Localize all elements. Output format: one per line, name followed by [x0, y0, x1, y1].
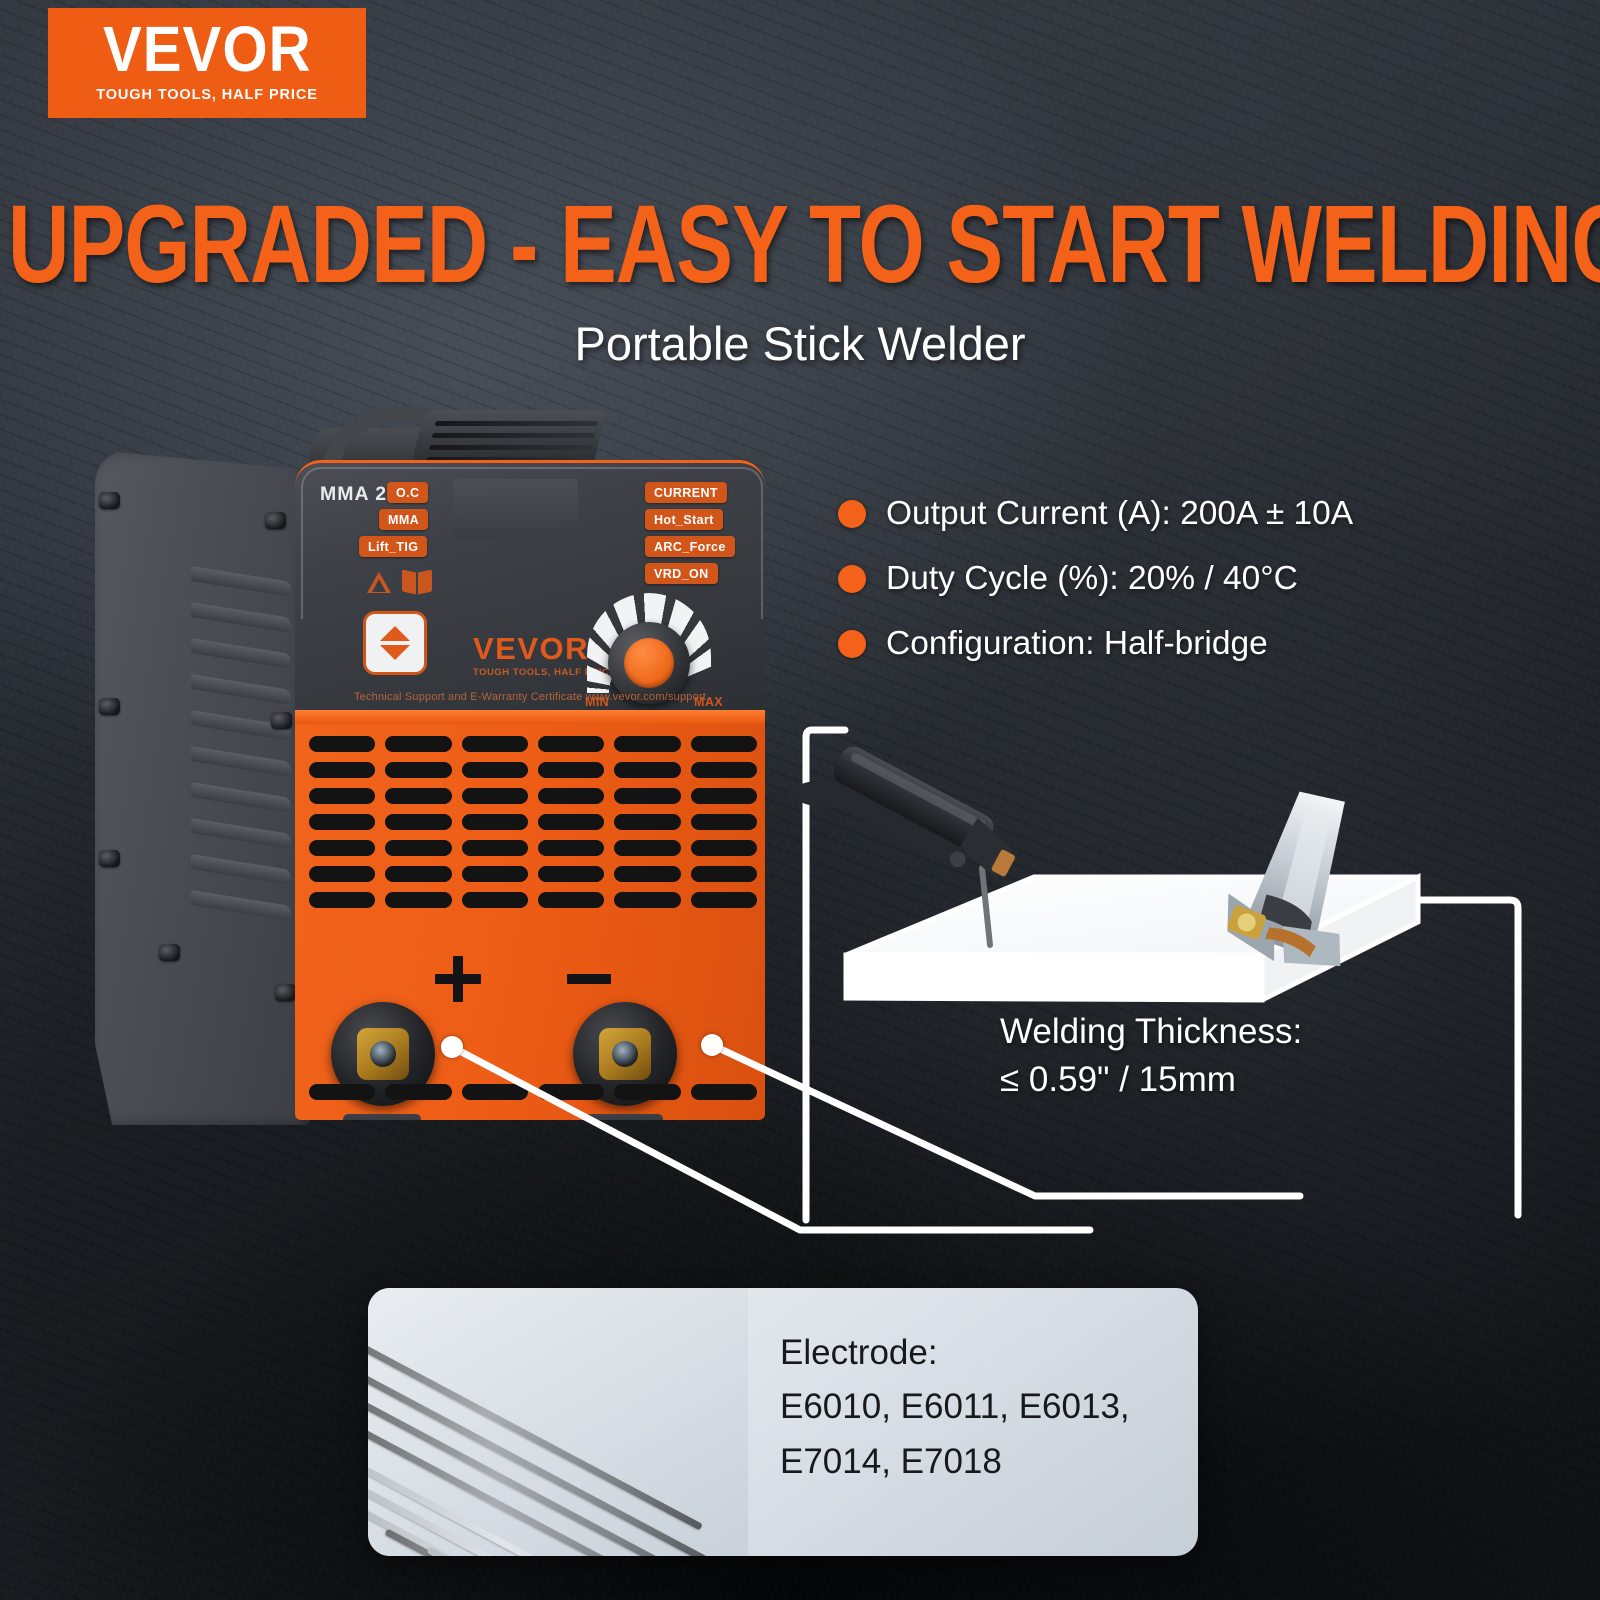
screw: [275, 984, 296, 1001]
mode-chip-mma: MMA: [379, 509, 428, 530]
vevor-logo: VEVOR TOUGH TOOLS, HALF PRICE: [48, 8, 366, 118]
page-headline: UPGRADED - EASY TO START WELDING: [8, 182, 1592, 309]
support-note: Technical Support and E-Warranty Certifi…: [295, 691, 765, 703]
spec-item: Duty Cycle (%): 20% / 40°C: [838, 560, 1353, 598]
spec-item: Output Current (A): 200A ± 10A: [838, 495, 1353, 533]
screw: [99, 850, 120, 867]
warning-icons: [367, 571, 432, 593]
negative-terminal-icon: [567, 974, 611, 984]
rubber-foot: [343, 1114, 421, 1120]
mode-chip-lift-tig: Lift_TIG: [359, 536, 427, 557]
spec-label: Duty Cycle (%): 20% / 40°C: [886, 560, 1298, 598]
leader-dot-negative: [701, 1034, 723, 1056]
mode-chip-vrd-on: VRD_ON: [645, 563, 718, 584]
leader-dot-positive: [441, 1036, 463, 1058]
welding-thickness-callout: Welding Thickness: ≤ 0.59" / 15mm: [1000, 1008, 1302, 1103]
electrode-card: Electrode: E6010, E6011, E6013, E7014, E…: [368, 1288, 1198, 1556]
model-label: MMA 200: [320, 483, 411, 506]
screw: [271, 712, 292, 729]
digital-display: [453, 479, 578, 539]
electrode-title: Electrode:: [780, 1326, 1130, 1380]
spec-label: Output Current (A): 200A ± 10A: [886, 495, 1353, 533]
logo-tagline: TOUGH TOOLS, HALF PRICE: [96, 87, 318, 103]
bullet-dot-icon: [838, 500, 866, 528]
screw: [159, 944, 180, 961]
spec-item: Configuration: Half-bridge: [838, 625, 1353, 663]
warning-triangle-icon: [367, 572, 391, 593]
read-manual-book-icon: [402, 571, 432, 593]
screw: [265, 512, 286, 529]
mode-chip-hot-start: Hot_Start: [645, 509, 723, 530]
thickness-line-1: Welding Thickness:: [1000, 1008, 1302, 1056]
screw: [99, 698, 120, 715]
thickness-line-2: ≤ 0.59" / 15mm: [1000, 1056, 1302, 1104]
spec-label: Configuration: Half-bridge: [886, 625, 1268, 663]
terminal-markings: [295, 956, 765, 996]
page-subheadline: Portable Stick Welder: [0, 316, 1600, 371]
front-grille-section: [295, 710, 765, 1120]
spec-list: Output Current (A): 200A ± 10A Duty Cycl…: [838, 495, 1353, 690]
vent-grille: [309, 736, 757, 918]
knob-cap: [624, 638, 674, 688]
current-knob-assembly[interactable]: MIN MAX: [587, 593, 719, 705]
side-panel: [95, 450, 310, 1125]
mode-chip-arc-force: ARC_Force: [645, 536, 735, 557]
control-panel: MMA 200 O.C MMA Lift_TIG CURRENT Hot_Sta…: [295, 460, 765, 710]
mode-chip-current: CURRENT: [645, 482, 727, 503]
welder-machine: MMA 200 O.C MMA Lift_TIG CURRENT Hot_Sta…: [95, 392, 795, 1202]
screw: [99, 492, 120, 509]
bullet-dot-icon: [838, 630, 866, 658]
bullet-dot-icon: [838, 565, 866, 593]
front-face: MMA 200 O.C MMA Lift_TIG CURRENT Hot_Sta…: [295, 460, 765, 1160]
logo-wordmark: VEVOR: [103, 19, 312, 80]
positive-terminal-icon: [435, 956, 481, 1002]
electrode-rods-photo: [368, 1288, 748, 1556]
mode-chip-oc: O.C: [387, 482, 428, 503]
polarity-arrows-icon: [363, 611, 427, 675]
electrode-text: Electrode: E6010, E6011, E6013, E7014, E…: [780, 1326, 1130, 1489]
rubber-foot: [585, 1114, 663, 1120]
electrode-list-line-2: E7014, E7018: [780, 1435, 1130, 1489]
electrode-list-line-1: E6010, E6011, E6013,: [780, 1380, 1130, 1434]
lower-vent-grille: [309, 1084, 757, 1110]
